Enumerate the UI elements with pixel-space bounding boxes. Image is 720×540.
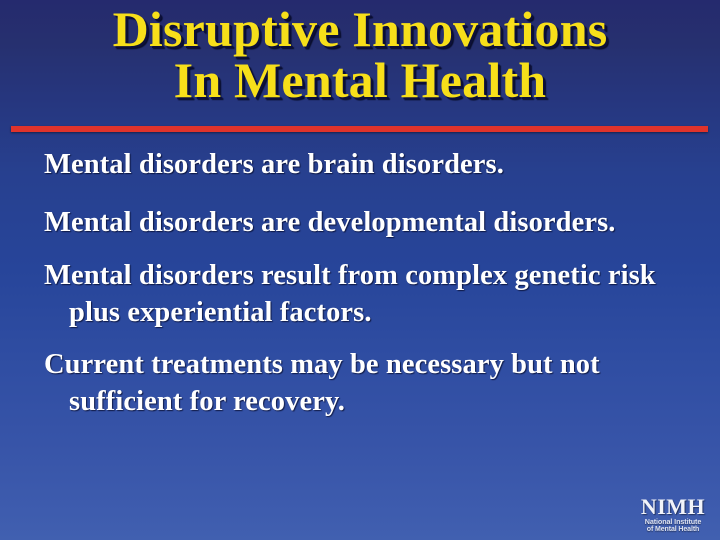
title-line-2: In Mental Health <box>0 55 720 106</box>
list-item: Mental disorders result from complex gen… <box>44 257 692 331</box>
nimh-wordmark-text: NIMH <box>636 496 710 518</box>
nimh-logo: NIMH National Institute of Mental Health <box>636 496 710 534</box>
list-item: Mental disorders are developmental disor… <box>44 204 692 241</box>
bullet-list: Mental disorders are brain disorders. Me… <box>44 146 692 420</box>
title-line-1: Disruptive Innovations <box>0 4 720 55</box>
slide-title: Disruptive Innovations In Mental Health <box>0 4 720 106</box>
red-divider-rule <box>11 126 708 132</box>
list-item: Current treatments may be necessary but … <box>44 346 692 420</box>
nimh-subtitle-line-2: of Mental Health <box>636 526 710 534</box>
list-item: Mental disorders are brain disorders. <box>44 146 692 183</box>
nimh-subtitle-line-1: National Institute <box>636 518 710 526</box>
presentation-slide: Disruptive Innovations In Mental Health … <box>0 0 720 540</box>
